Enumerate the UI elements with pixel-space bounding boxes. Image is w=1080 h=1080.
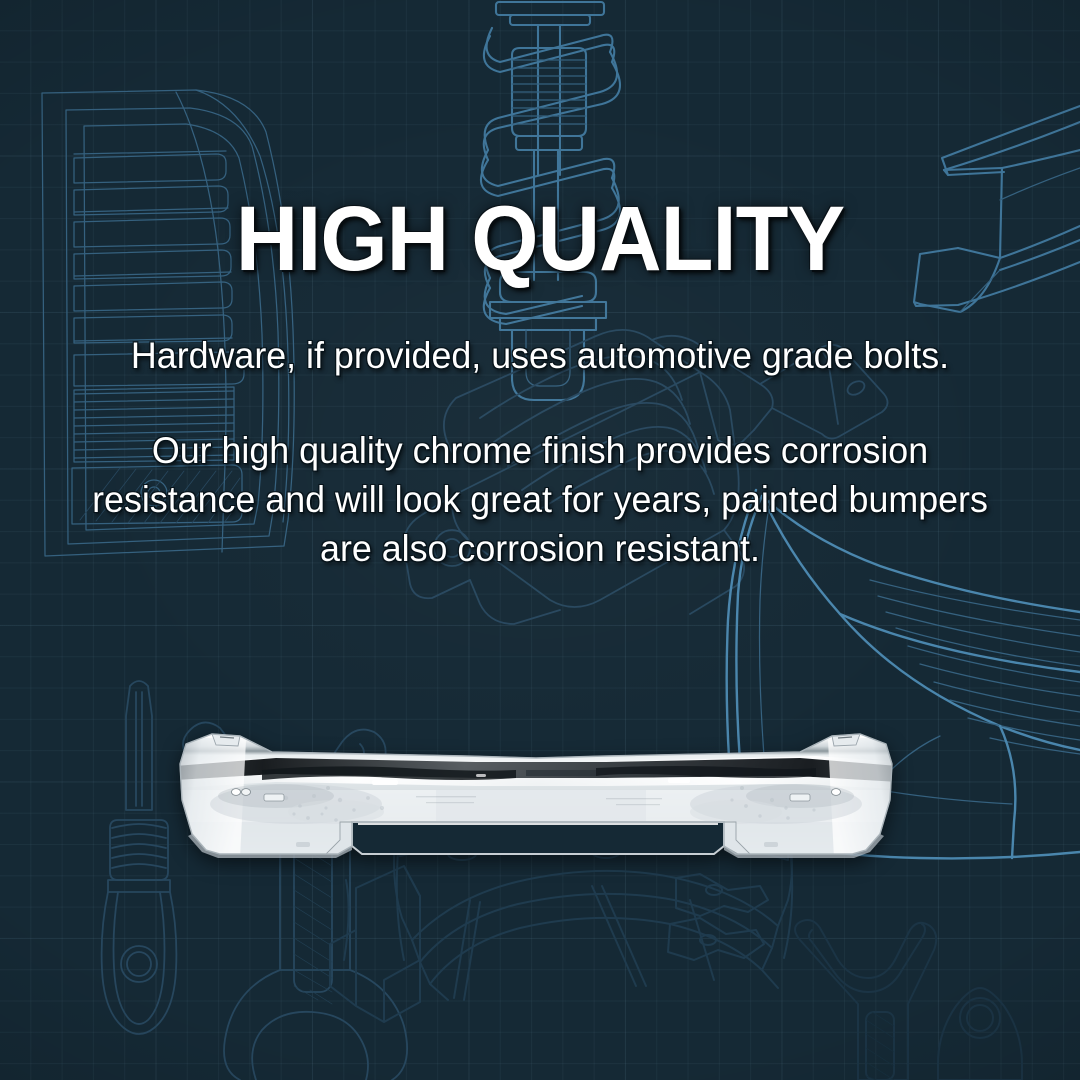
- infographic-canvas: HIGH QUALITY Hardware, if provided, uses…: [0, 0, 1080, 1080]
- product-image-chrome-bumper: [176, 726, 898, 866]
- screwdriver-icon: [102, 681, 177, 1034]
- screwdriver-secondary-icon: [938, 988, 1022, 1080]
- bumper-body: [176, 730, 898, 858]
- copy-block: HIGH QUALITY Hardware, if provided, uses…: [0, 196, 1080, 572]
- open-end-wrench-secondary-icon: [795, 920, 936, 1080]
- feature-paragraph-chrome-finish: Our high quality chrome finish provides …: [84, 426, 997, 572]
- page-title: HIGH QUALITY: [91, 196, 990, 283]
- feature-paragraph-hardware: Hardware, if provided, uses automotive g…: [84, 331, 997, 380]
